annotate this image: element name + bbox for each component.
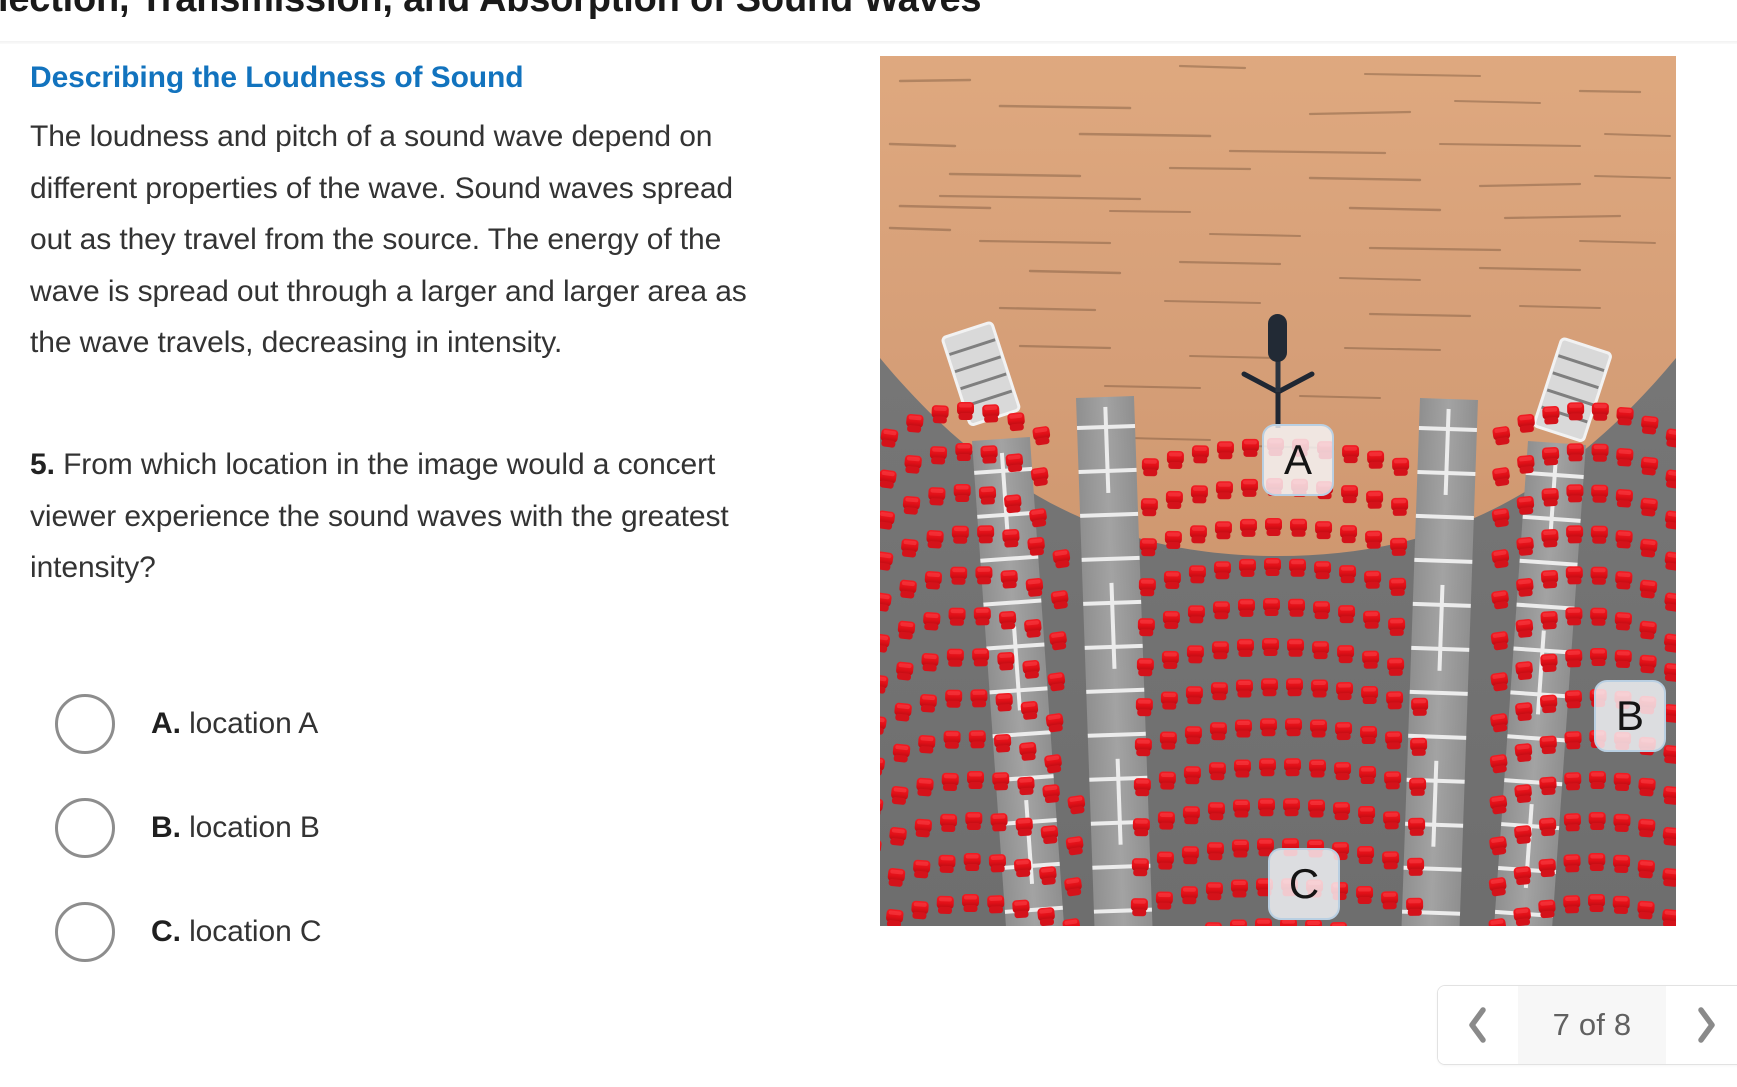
header-divider xyxy=(0,41,1737,44)
next-page-button[interactable] xyxy=(1666,986,1737,1064)
pagination-control: 7 of 8 xyxy=(1437,985,1737,1065)
radio-button-a[interactable] xyxy=(55,694,115,754)
location-marker-a: A xyxy=(1262,424,1334,496)
page-counter: 7 of 8 xyxy=(1518,986,1666,1064)
previous-page-button[interactable] xyxy=(1438,986,1518,1064)
option-label-a: A. location A xyxy=(151,707,318,741)
page-title: lection, Transmission, and Absorption of… xyxy=(0,0,981,21)
location-marker-c: C xyxy=(1268,848,1340,920)
option-row-c[interactable]: C. location C xyxy=(55,880,755,984)
option-letter-b: B. xyxy=(151,811,181,844)
option-row-b[interactable]: B. location B xyxy=(55,776,755,880)
lesson-paragraph: The loudness and pitch of a sound wave d… xyxy=(30,111,760,369)
lesson-page: lection, Transmission, and Absorption of… xyxy=(0,0,1737,1087)
question-number: 5. xyxy=(30,448,55,481)
chevron-right-icon xyxy=(1695,1006,1717,1044)
option-letter-a: A. xyxy=(151,707,181,740)
chevron-left-icon xyxy=(1467,1006,1489,1044)
option-text-b: location B xyxy=(189,811,320,844)
option-label-b: B. location B xyxy=(151,811,320,845)
option-text-a: location A xyxy=(189,707,318,740)
option-text-c: location C xyxy=(189,915,321,948)
radio-button-b[interactable] xyxy=(55,798,115,858)
option-letter-c: C. xyxy=(151,915,181,948)
lesson-header: lection, Transmission, and Absorption of… xyxy=(0,0,1737,42)
option-label-c: C. location C xyxy=(151,915,321,949)
answer-options: A. location A B. location B C. location … xyxy=(55,672,755,984)
question-prompt: 5. From which location in the image woul… xyxy=(30,439,745,594)
radio-button-c[interactable] xyxy=(55,902,115,962)
section-heading: Describing the Loudness of Sound xyxy=(30,58,790,97)
question-text: From which location in the image would a… xyxy=(30,448,729,584)
lesson-text-column: Describing the Loudness of Sound The lou… xyxy=(30,58,790,594)
location-marker-b: B xyxy=(1594,680,1666,752)
option-row-a[interactable]: A. location A xyxy=(55,672,755,776)
